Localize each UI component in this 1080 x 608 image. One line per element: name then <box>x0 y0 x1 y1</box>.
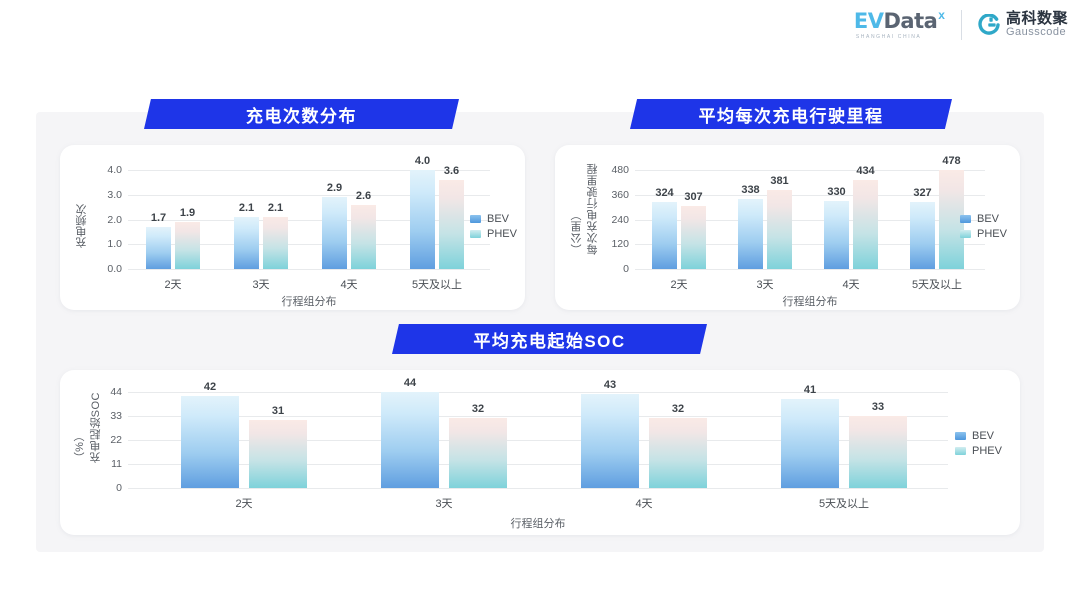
chart3-legend: BEV PHEV <box>955 430 1002 457</box>
gausscode-name-en: Gausscode <box>1006 27 1068 39</box>
chart2-bar-value: 330 <box>827 186 845 198</box>
chart2-bar-bev[interactable]: 330 <box>824 201 849 269</box>
chart1-bar-value: 2.6 <box>356 190 371 202</box>
chart1-xtick: 4天 <box>312 276 386 292</box>
chart1-bar-phev[interactable]: 3.6 <box>439 180 464 269</box>
chart3-bar-value: 31 <box>272 405 284 417</box>
chart1-bar-phev[interactable]: 2.1 <box>263 217 288 269</box>
chart2-legend-item-bev[interactable]: BEV <box>960 213 1007 225</box>
chart3-bar-value: 41 <box>804 384 816 396</box>
chart1-bar-value: 2.1 <box>239 202 254 214</box>
chart3-bar-group: 41 33 5天及以上 <box>764 392 924 488</box>
chart3-legend-label: PHEV <box>972 445 1002 457</box>
evdata-logo-subtitle: shanghai china <box>856 35 921 40</box>
chart3-bar-value: 32 <box>672 403 684 415</box>
chart3-bar-bev[interactable]: 43 <box>581 394 639 488</box>
chart-range-per-charge: 每次充电行驶里程 （公里） 480 360 240 120 0 324 <box>555 145 1020 310</box>
chart2-bar-bev[interactable]: 338 <box>738 199 763 269</box>
gausscode-logo: 高科数聚 Gausscode <box>978 11 1068 38</box>
evdata-logo-data: Data <box>883 11 937 32</box>
chart3-legend-label: BEV <box>972 430 994 442</box>
evdata-logo: EV Data x shanghai china <box>854 11 945 40</box>
chart1-bar-value: 1.9 <box>180 207 195 219</box>
chart2-xtick: 2天 <box>643 276 715 292</box>
chart3-ytick: 11 <box>111 458 122 470</box>
banner-chart1-text: 充电次数分布 <box>246 102 357 127</box>
chart1-xtick: 3天 <box>224 276 298 292</box>
legend-swatch-bev-icon <box>470 215 481 223</box>
chart1-bar-value: 2.1 <box>268 202 283 214</box>
chart3-bar-group: 44 32 3天 <box>364 392 524 488</box>
chart2-legend-item-phev[interactable]: PHEV <box>960 228 1007 240</box>
banner-chart1-title: 充电次数分布 <box>144 99 459 129</box>
chart1-bar-group: 2.1 2.1 3天 <box>224 170 298 269</box>
chart3-bar-value: 33 <box>872 401 884 413</box>
chart2-bar-value: 307 <box>684 191 702 203</box>
evdata-wordmark: EV Data x <box>854 11 945 32</box>
chart2-legend-label: PHEV <box>977 228 1007 240</box>
chart1-legend-label: PHEV <box>487 228 517 240</box>
legend-swatch-phev-icon <box>955 447 966 455</box>
legend-swatch-phev-icon <box>960 230 971 238</box>
banner-chart3-title: 平均充电起始SOC <box>392 324 707 354</box>
chart2-bar-value: 434 <box>856 165 874 177</box>
chart2-xtick: 3天 <box>729 276 801 292</box>
chart3-bar-value: 43 <box>604 379 616 391</box>
chart1-bar-group: 1.7 1.9 2天 <box>136 170 210 269</box>
gausscode-name-cn: 高科数聚 <box>1006 11 1068 27</box>
chart2-bar-group: 324 307 2天 <box>643 170 715 269</box>
chart3-y-axis-label: 充电起始SOC （%） <box>72 392 104 463</box>
legend-swatch-phev-icon <box>470 230 481 238</box>
chart1-bar-value: 2.9 <box>327 182 342 194</box>
chart1-ytick: 2.0 <box>107 214 122 226</box>
chart1-ytick: 4.0 <box>107 164 122 176</box>
chart1-ytick: 3.0 <box>107 189 122 201</box>
chart-start-soc: 充电起始SOC （%） 44 33 22 11 0 42 <box>60 370 1020 535</box>
chart3-bar-value: 44 <box>404 377 416 389</box>
chart3-bar-bev[interactable]: 44 <box>381 392 439 488</box>
chart2-bar-value: 381 <box>770 175 788 187</box>
chart2-bar-phev[interactable]: 307 <box>681 206 706 269</box>
chart2-ytick: 0 <box>623 263 629 275</box>
chart3-ytick: 0 <box>116 482 122 494</box>
chart2-x-axis-label: 行程组分布 <box>635 293 985 309</box>
chart2-bar-bev[interactable]: 327 <box>910 202 935 269</box>
chart2-ytick: 480 <box>611 164 629 176</box>
chart1-plot-area: 4.0 3.0 2.0 1.0 0.0 1.7 1.9 <box>128 170 490 269</box>
chart1-bar-phev[interactable]: 2.6 <box>351 205 376 269</box>
chart2-bar-phev[interactable]: 381 <box>767 190 792 269</box>
gausscode-wordmark: 高科数聚 Gausscode <box>1006 11 1068 38</box>
chart2-ytick: 240 <box>611 214 629 226</box>
chart1-bar-value: 1.7 <box>151 212 166 224</box>
chart3-y-axis-label-line1: 充电起始SOC <box>88 392 104 463</box>
chart2-legend: BEV PHEV <box>960 213 1007 240</box>
chart2-xtick: 4天 <box>815 276 887 292</box>
chart1-y-axis-label: 充电频次 <box>74 190 90 262</box>
chart1-xtick: 5天及以上 <box>400 276 474 292</box>
chart3-ytick: 22 <box>110 434 122 446</box>
chart1-bar-bev[interactable]: 2.1 <box>234 217 259 269</box>
chart3-bar-bev[interactable]: 42 <box>181 396 239 488</box>
chart2-bar-value: 324 <box>655 187 673 199</box>
chart3-bar-bev[interactable]: 41 <box>781 399 839 488</box>
chart3-bar-phev[interactable]: 31 <box>249 420 307 488</box>
chart1-ytick: 1.0 <box>107 238 122 250</box>
chart1-bar-group: 2.9 2.6 4天 <box>312 170 386 269</box>
chart2-bar-value: 478 <box>942 155 960 167</box>
gausscode-g-mark-icon <box>978 14 1000 36</box>
chart3-bar-value: 32 <box>472 403 484 415</box>
chart3-bar-phev[interactable]: 33 <box>849 416 907 488</box>
chart2-y-axis-label: 每次充电行驶里程 （公里） <box>569 163 601 255</box>
chart1-bar-bev[interactable]: 2.9 <box>322 197 347 269</box>
chart2-plot-area: 480 360 240 120 0 324 307 2天 <box>635 170 985 269</box>
chart2-y-axis-label-line1: 每次充电行驶里程 <box>585 163 601 255</box>
banner-chart2-title: 平均每次充电行驶里程 <box>630 99 952 129</box>
chart1-xtick: 2天 <box>136 276 210 292</box>
chart3-plot-area: 44 33 22 11 0 42 31 2天 <box>128 392 948 488</box>
chart-card-charging-frequency: 充电频次 4.0 3.0 2.0 1.0 0.0 1.7 <box>60 145 525 310</box>
chart2-bar-group: 330 434 4天 <box>815 170 887 269</box>
chart1-bar-value: 3.6 <box>444 165 459 177</box>
chart3-bar-value: 42 <box>204 381 216 393</box>
chart2-bar-phev[interactable]: 434 <box>853 180 878 269</box>
chart2-ytick: 120 <box>611 238 629 250</box>
chart2-y-axis-label-line2: （公里） <box>569 163 585 255</box>
chart1-bar-bev[interactable]: 1.7 <box>146 227 171 269</box>
chart2-xtick: 5天及以上 <box>901 276 973 292</box>
chart3-y-axis-label-line2: （%） <box>72 392 88 463</box>
banner-chart3-text: 平均充电起始SOC <box>473 327 625 352</box>
chart1-bar-phev[interactable]: 1.9 <box>175 222 200 269</box>
chart1-bar-bev[interactable]: 4.0 <box>410 170 435 269</box>
chart3-xtick: 2天 <box>164 495 324 511</box>
chart2-legend-label: BEV <box>977 213 999 225</box>
chart3-legend-item-phev[interactable]: PHEV <box>955 445 1002 457</box>
chart3-xtick: 3天 <box>364 495 524 511</box>
chart2-bar-group: 338 381 3天 <box>729 170 801 269</box>
chart3-axis-line: 0 <box>128 488 948 489</box>
chart1-legend-item-bev[interactable]: BEV <box>470 213 517 225</box>
header-logos: EV Data x shanghai china 高科数聚 Gausscode <box>854 10 1068 40</box>
evdata-logo-ev: EV <box>854 11 884 32</box>
chart-charging-frequency: 充电频次 4.0 3.0 2.0 1.0 0.0 1.7 <box>60 145 525 310</box>
chart1-ytick: 0.0 <box>107 263 122 275</box>
chart3-legend-item-bev[interactable]: BEV <box>955 430 1002 442</box>
chart2-bar-bev[interactable]: 324 <box>652 202 677 269</box>
chart1-x-axis-label: 行程组分布 <box>128 293 490 309</box>
chart2-bar-value: 338 <box>741 184 759 196</box>
chart3-x-axis-label: 行程组分布 <box>128 515 948 531</box>
legend-swatch-bev-icon <box>960 215 971 223</box>
chart1-legend: BEV PHEV <box>470 213 517 240</box>
chart2-axis-line: 0 <box>635 269 985 270</box>
chart1-legend-label: BEV <box>487 213 509 225</box>
logo-divider <box>961 10 962 40</box>
legend-swatch-bev-icon <box>955 432 966 440</box>
evdata-logo-superscript: x <box>938 9 945 21</box>
chart1-axis-line: 0.0 <box>128 269 490 270</box>
chart1-legend-item-phev[interactable]: PHEV <box>470 228 517 240</box>
chart3-ytick: 44 <box>110 386 122 398</box>
banner-chart2-text: 平均每次充电行驶里程 <box>699 102 884 127</box>
chart3-bar-phev[interactable]: 32 <box>449 418 507 488</box>
chart3-xtick: 5天及以上 <box>764 495 924 511</box>
chart2-bar-value: 327 <box>913 187 931 199</box>
chart3-ytick: 33 <box>110 410 122 422</box>
chart1-bar-value: 4.0 <box>415 155 430 167</box>
chart2-ytick: 360 <box>611 189 629 201</box>
chart3-bar-phev[interactable]: 32 <box>649 418 707 488</box>
chart-card-range-per-charge: 每次充电行驶里程 （公里） 480 360 240 120 0 324 <box>555 145 1020 310</box>
chart-card-start-soc: 充电起始SOC （%） 44 33 22 11 0 42 <box>60 370 1020 535</box>
chart1-bar-group: 4.0 3.6 5天及以上 <box>400 170 474 269</box>
chart3-bar-group: 43 32 4天 <box>564 392 724 488</box>
chart3-bar-group: 42 31 2天 <box>164 392 324 488</box>
chart3-xtick: 4天 <box>564 495 724 511</box>
